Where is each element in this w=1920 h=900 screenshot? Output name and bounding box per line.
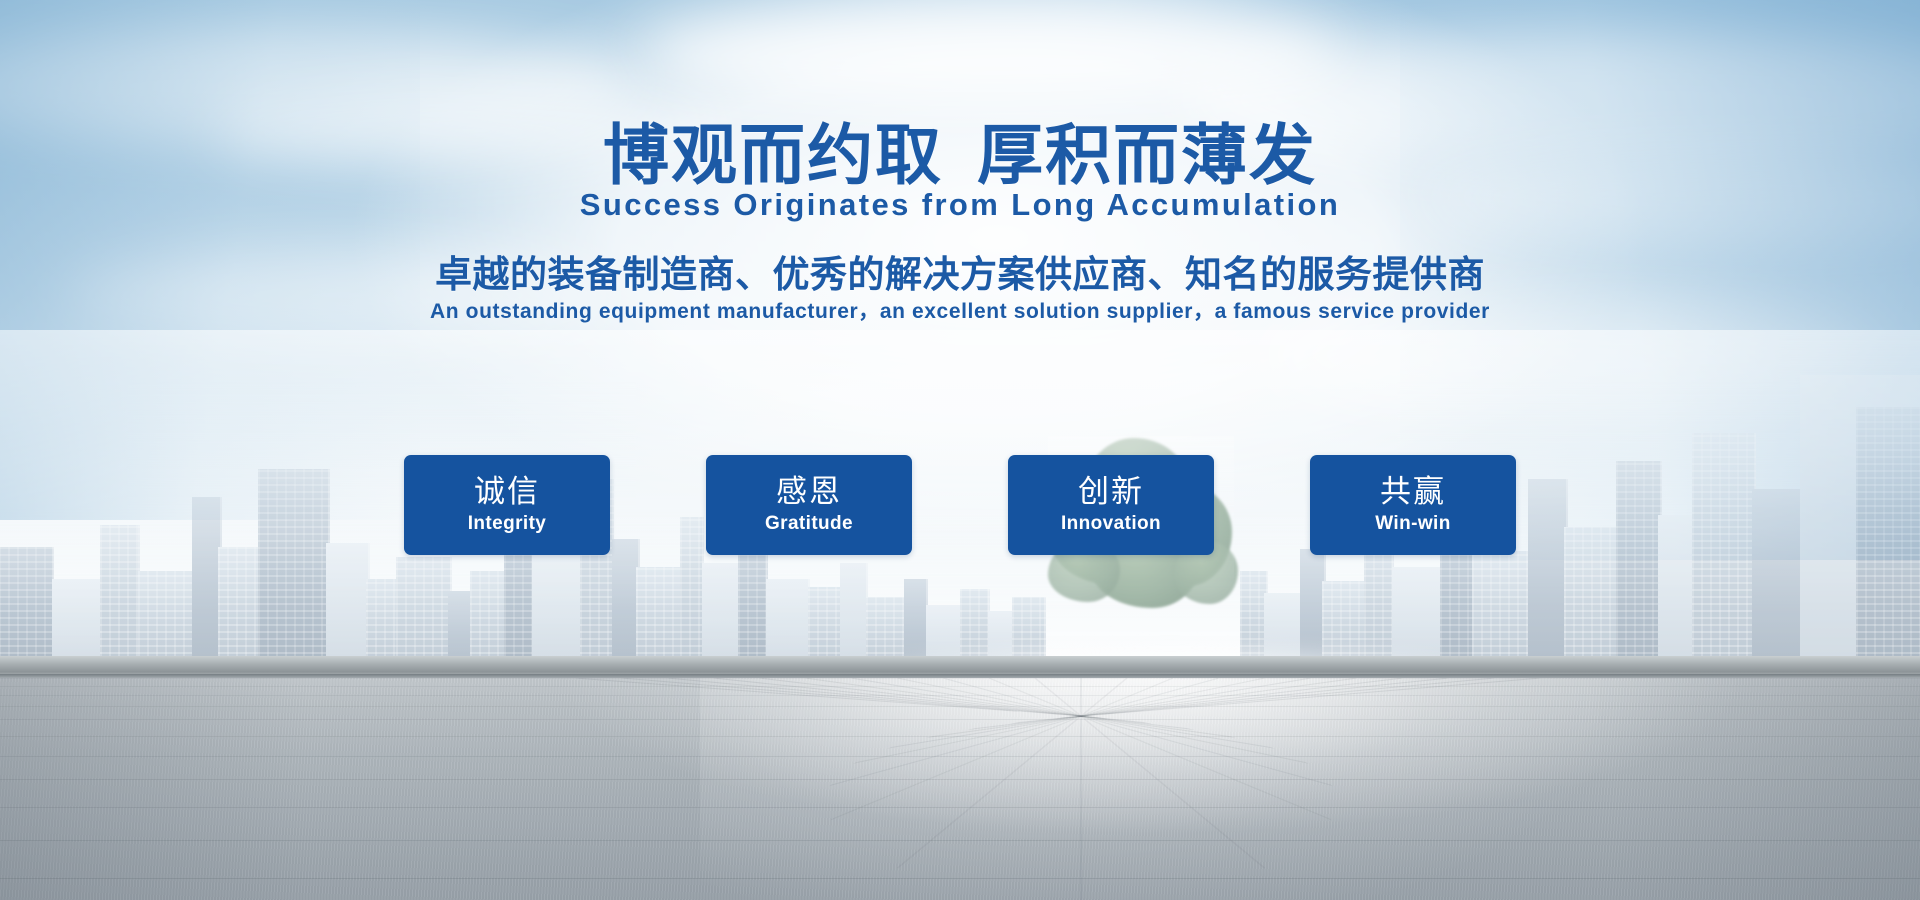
- value-box-innovation[interactable]: 创新 Innovation: [1008, 455, 1214, 555]
- subtitle-chinese: 卓越的装备制造商、优秀的解决方案供应商、知名的服务提供商: [0, 252, 1920, 298]
- headline-chinese-part2: 厚积而薄发: [977, 118, 1317, 192]
- banner-content: 博观而约取厚积而薄发 Success Originates from Long …: [0, 0, 1920, 900]
- headline-chinese-part1: 博观而约取: [603, 118, 943, 192]
- value-label-en: Gratitude: [765, 512, 853, 536]
- value-label-en: Innovation: [1061, 512, 1161, 536]
- headline-english: Success Originates from Long Accumulatio…: [0, 186, 1920, 224]
- subtitle-english: An outstanding equipment manufacturer，an…: [0, 298, 1920, 326]
- value-label-cn: 感恩: [776, 474, 842, 510]
- value-box-gratitude[interactable]: 感恩 Gratitude: [706, 455, 912, 555]
- headline-chinese: 博观而约取厚积而薄发: [0, 118, 1920, 192]
- value-box-list: 诚信 Integrity 感恩 Gratitude 创新 Innovation …: [0, 455, 1920, 555]
- value-label-cn: 共赢: [1380, 474, 1446, 510]
- hero-banner: 博观而约取厚积而薄发 Success Originates from Long …: [0, 0, 1920, 900]
- value-label-en: Integrity: [468, 512, 547, 536]
- value-box-winwin[interactable]: 共赢 Win-win: [1310, 455, 1516, 555]
- value-label-cn: 创新: [1078, 474, 1144, 510]
- value-box-integrity[interactable]: 诚信 Integrity: [404, 455, 610, 555]
- value-label-cn: 诚信: [474, 474, 540, 510]
- value-label-en: Win-win: [1375, 512, 1450, 536]
